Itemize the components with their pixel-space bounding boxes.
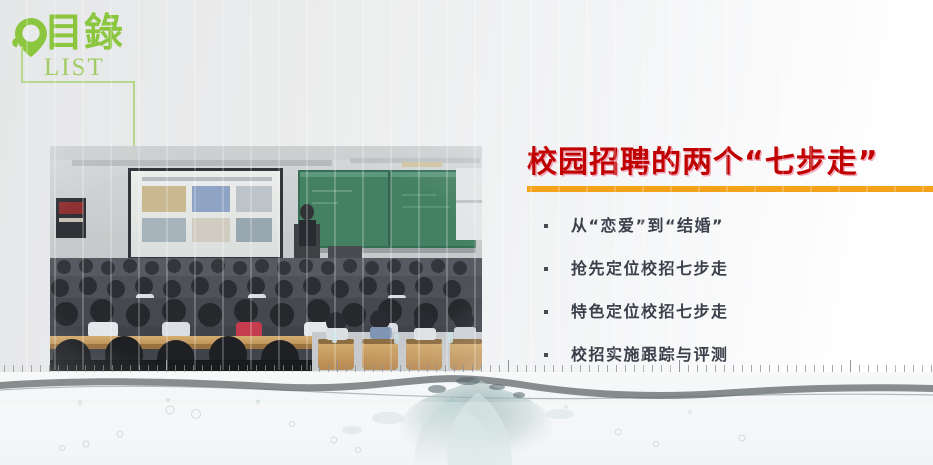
list-item-label: 抢先定位校招七步走: [571, 259, 729, 279]
list-item[interactable]: 抢先定位校招七步走: [541, 247, 933, 290]
bracket-line-bottom: [21, 81, 135, 83]
content-title-block: 校园招聘的两个“七步走”: [527, 142, 933, 192]
list-item[interactable]: 从“恋爱”到“结婚”: [541, 204, 933, 247]
bullet-dot-icon: [544, 224, 548, 228]
bullet-dot-icon: [544, 267, 548, 271]
list-logo-block: 目錄 LIST: [8, 4, 168, 90]
bracket-line-left: [21, 46, 23, 82]
list-logo-en-label: LIST: [44, 54, 105, 82]
bullet-dot-icon: [544, 353, 548, 357]
classroom-lecture-photo: [50, 146, 482, 371]
slide-canvas: 目錄 LIST: [0, 0, 933, 465]
list-item-label: 从“恋爱”到“结婚”: [571, 216, 724, 236]
page-title: 校园招聘的两个“七步走”: [527, 142, 933, 184]
list-item[interactable]: 特色定位校招七步走: [541, 290, 933, 333]
list-item-label: 特色定位校招七步走: [571, 302, 729, 322]
water-splash-photo: [0, 372, 933, 465]
list-logo-cn-label: 目錄: [44, 12, 124, 56]
title-underline-rule: [527, 186, 933, 192]
bullet-dot-icon: [544, 310, 548, 314]
bullet-list: 从“恋爱”到“结婚” 抢先定位校招七步走 特色定位校招七步走 校招实施跟踪与评测: [541, 204, 933, 376]
